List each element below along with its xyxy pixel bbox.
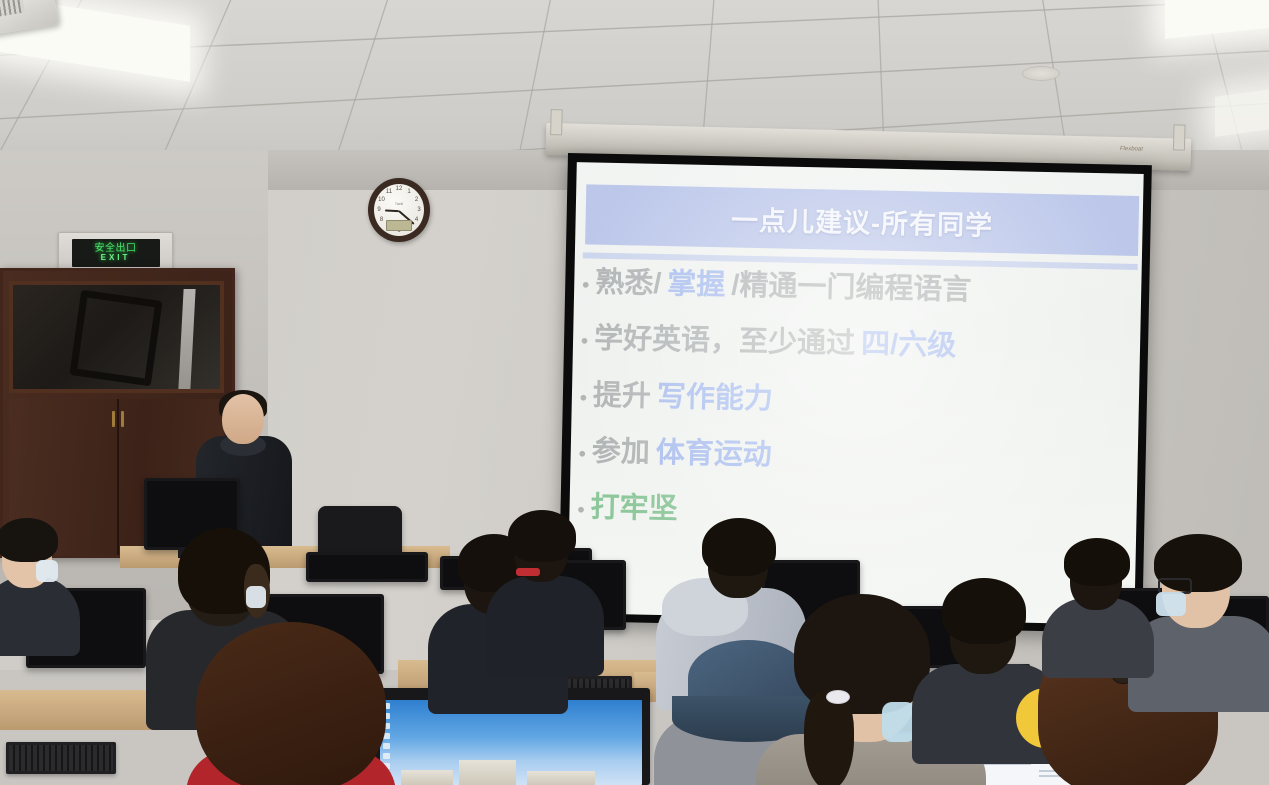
bullet-marker: •	[582, 274, 589, 297]
clock-numeral: 4	[415, 217, 418, 223]
wallpaper-building-left	[401, 770, 453, 785]
audience-5-red-strap	[516, 568, 540, 576]
audience-6-hair	[702, 518, 776, 576]
clock-face: 12 1 2 3 4 5 6 7 8 9 10 11 Tianli	[374, 184, 424, 236]
bullet-marker: •	[580, 387, 587, 410]
screen-bracket-right	[1173, 124, 1186, 150]
exit-sign-english-label: EXIT	[101, 254, 131, 262]
cabinet-handle-left[interactable]	[112, 411, 115, 427]
clock-lcd-display	[386, 220, 412, 231]
audience-member-3	[186, 622, 386, 785]
clock-numeral: 8	[380, 217, 383, 223]
desk-monitor-rear	[306, 552, 428, 582]
bullet-text-highlight: 写作能力	[657, 381, 774, 417]
bullet-text-part: 参加	[591, 436, 650, 471]
slide-bullet-item: • 学好英语，至少通过四/六级	[581, 323, 1135, 368]
clock-numeral: 9	[377, 207, 380, 213]
slide-title-bar: 一点儿建议-所有同学	[585, 184, 1139, 256]
clock-numeral: 11	[386, 189, 392, 195]
audience-5-torso	[486, 576, 604, 676]
audience-5-hair	[508, 510, 576, 562]
audience-1-face-mask	[36, 560, 58, 582]
audience-member-5	[490, 512, 594, 662]
slide-bullet-item: • 参加体育运动	[578, 435, 1132, 480]
bullet-text-part: 熟悉/	[595, 267, 662, 302]
audience-11-face-mask	[1156, 592, 1186, 616]
clock-brand-label: Tianli	[395, 202, 403, 206]
audience-1-hair	[0, 518, 58, 562]
bullet-text-part: 提升	[593, 379, 652, 414]
clock-numeral: 3	[417, 207, 420, 213]
audience-12-hair	[1064, 538, 1130, 586]
clock-numeral: 12	[396, 186, 403, 192]
clock-numeral: 1	[407, 189, 410, 195]
audience-8-ponytail	[804, 690, 854, 785]
bullet-marker: •	[581, 331, 588, 354]
reflected-chair-shape	[69, 290, 162, 387]
clock-hour-hand	[385, 209, 399, 212]
bullet-text-part: /精通一门编程语言	[731, 269, 972, 307]
bullet-text-highlight: 四/六级	[861, 329, 957, 364]
audience-8-face-mask	[882, 702, 916, 742]
audience-2-face-mask	[246, 586, 266, 608]
audience-member-1	[0, 516, 74, 636]
bullet-text-part: 学好英语，至少通过	[594, 323, 856, 362]
audience-1-torso	[0, 576, 80, 656]
keyboard-left[interactable]	[6, 742, 116, 774]
desk-monitor-rear-panel	[309, 555, 425, 579]
projector-vent-icon	[0, 0, 24, 17]
audience-12-torso	[1042, 598, 1154, 678]
classroom-photo-scene: 安全出口 EXIT 12 1 2 3 4 5 6 7 8 9 10 11 Tia…	[0, 0, 1269, 785]
wallpaper-building-center	[459, 760, 517, 785]
clock-numeral: 2	[415, 197, 418, 203]
bullet-text-highlight: 体育运动	[655, 437, 772, 473]
presenter-head	[222, 394, 264, 444]
wallpaper-building-right	[527, 771, 595, 785]
audience-3-hair	[196, 622, 386, 785]
screen-brand-label: Flexboat	[1120, 146, 1143, 153]
wall-clock: 12 1 2 3 4 5 6 7 8 9 10 11 Tianli	[368, 178, 430, 242]
cabinet-glass-panel	[9, 281, 224, 393]
bullet-text-highlight: 掌握	[667, 268, 726, 303]
audience-member-11	[1136, 534, 1266, 694]
audience-8-hair-tie	[826, 690, 850, 704]
slide-bullet-item: • 熟悉/掌握/精通一门编程语言	[582, 266, 1136, 311]
audience-member-12	[1048, 540, 1144, 660]
cabinet-handle-right[interactable]	[121, 411, 124, 427]
smoke-detector-icon	[1022, 66, 1060, 81]
clock-numeral: 10	[378, 197, 385, 203]
bullet-marker: •	[578, 443, 585, 466]
screen-bracket-left	[550, 109, 563, 135]
glass-reflection	[178, 289, 195, 389]
slide-bullet-item: • 提升写作能力	[580, 379, 1134, 424]
slide-title: 一点儿建议-所有同学	[731, 198, 994, 242]
audience-9-hair	[942, 578, 1026, 644]
